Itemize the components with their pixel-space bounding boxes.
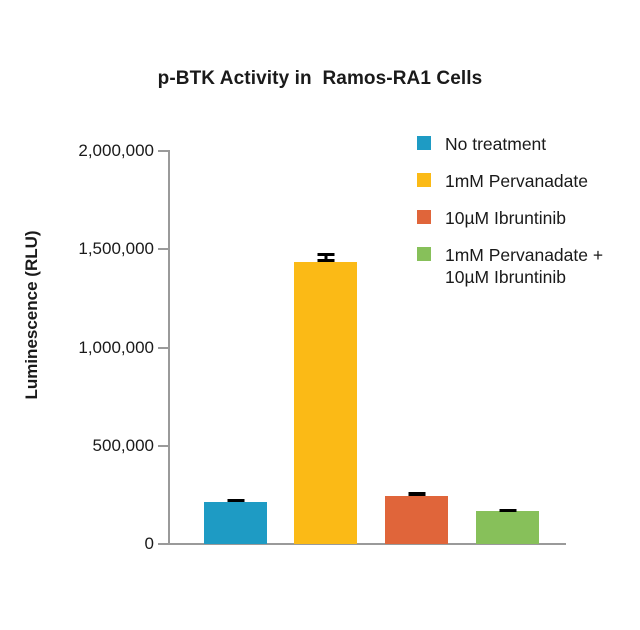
- legend-label: No treatment: [445, 133, 546, 155]
- legend-swatch: [417, 136, 431, 150]
- chart-figure: p-BTK Activity in Ramos-RA1 Cells Lumine…: [0, 0, 640, 630]
- bar: [294, 262, 357, 544]
- error-bar: [294, 253, 357, 262]
- y-tick-mark: [158, 543, 169, 545]
- error-bar-cap-top: [317, 253, 334, 256]
- y-tick-mark: [158, 445, 169, 447]
- y-tick-label: 2,000,000: [78, 141, 154, 161]
- legend-swatch: [417, 210, 431, 224]
- legend-entry[interactable]: No treatment: [417, 133, 546, 155]
- legend-label: 1mM Pervanadate: [445, 170, 588, 192]
- legend-label: 10µM Ibruntinib: [445, 207, 566, 229]
- y-tick-label: 1,500,000: [78, 239, 154, 259]
- y-tick-mark: [158, 347, 169, 349]
- error-bar-cap-top: [408, 492, 425, 495]
- y-tick-label: 0: [145, 534, 154, 554]
- legend-entry[interactable]: 10µM Ibruntinib: [417, 207, 566, 229]
- legend-swatch: [417, 173, 431, 187]
- legend-label: 1mM Pervanadate + 10µM Ibruntinib: [445, 244, 603, 288]
- y-tick-mark: [158, 150, 169, 152]
- y-tick-label: 500,000: [93, 436, 154, 456]
- y-tick-mark: [158, 248, 169, 250]
- y-axis-title: Luminescence (RLU): [22, 195, 42, 435]
- y-tick-label: 1,000,000: [78, 338, 154, 358]
- chart-title: p-BTK Activity in Ramos-RA1 Cells: [0, 68, 640, 90]
- legend-swatch: [417, 247, 431, 261]
- bar: [204, 502, 267, 544]
- legend-entry[interactable]: 1mM Pervanadate: [417, 170, 588, 192]
- legend-entry[interactable]: 1mM Pervanadate + 10µM Ibruntinib: [417, 244, 603, 288]
- error-bar-stem: [324, 253, 327, 262]
- bar: [476, 511, 539, 544]
- bar: [385, 496, 448, 544]
